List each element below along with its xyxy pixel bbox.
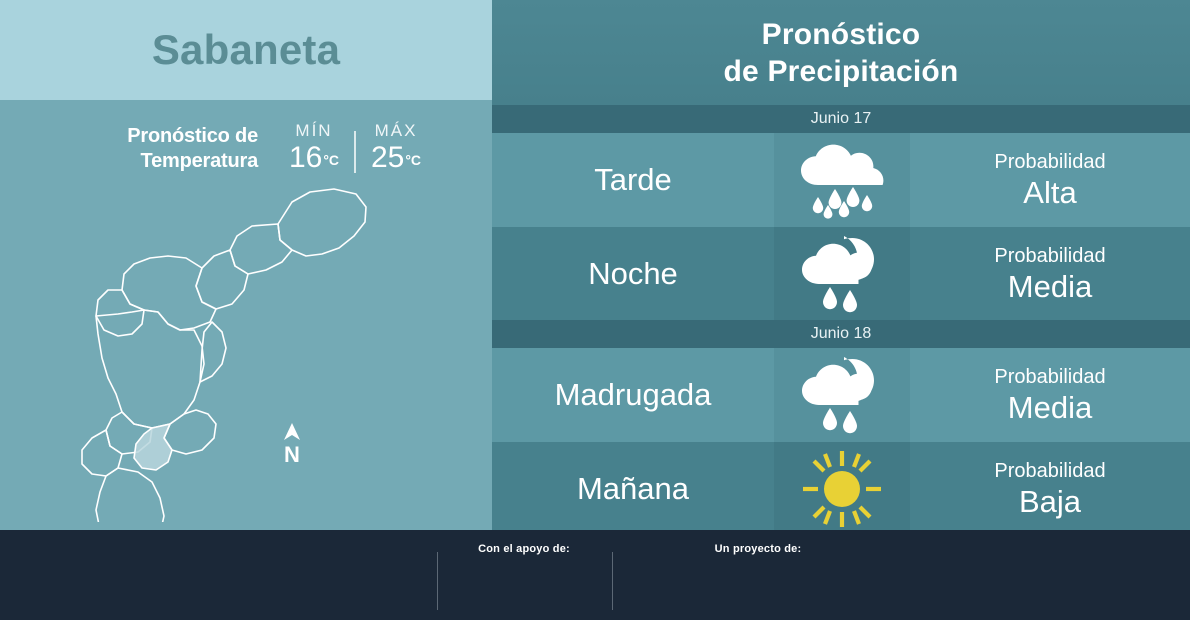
map-region-medellin: [96, 310, 204, 428]
probability-cell-madrugada: Probabilidad Media: [910, 348, 1190, 442]
map-panel: Pronóstico de Temperatura MÍN 16°C MÁX: [0, 100, 492, 530]
compass: N: [272, 422, 312, 466]
map-region-medellin-east: [200, 322, 226, 382]
probability-level-madrugada: Media: [1008, 390, 1092, 426]
map-region-envigado: [164, 410, 216, 454]
forecast-title-line1: Pronóstico: [762, 16, 921, 53]
map-region-caldas: [96, 468, 164, 522]
forecast-row-tarde: Tarde Probabilidad Alta: [492, 133, 1190, 227]
probability-level-noche: Media: [1008, 269, 1092, 305]
cloud-rain-icon: [794, 141, 890, 219]
left-panel: Sabaneta Pronóstico de Temperatura MÍN 1…: [0, 0, 492, 530]
probability-level-manana: Baja: [1019, 484, 1081, 520]
period-label-noche: Noche: [492, 227, 774, 321]
municipality-map: [34, 162, 434, 522]
forecast-panel: Pronóstico de Precipitación Junio 17 Tar…: [492, 0, 1190, 530]
project-caption: Un proyecto de:: [668, 543, 848, 555]
forecast-row-madrugada: Madrugada Probabilidad Media: [492, 348, 1190, 442]
probability-cell-manana: Probabilidad Baja: [910, 442, 1190, 536]
city-name: Sabaneta: [152, 29, 340, 71]
map-region-girardota: [230, 224, 292, 274]
probability-word-manana: Probabilidad: [994, 459, 1105, 484]
probability-cell-noche: Probabilidad Media: [910, 227, 1190, 321]
footer-divider-1: [437, 552, 438, 610]
probability-level-tarde: Alta: [1023, 175, 1076, 211]
map-region-copacabana: [196, 250, 248, 309]
map-region-bello: [122, 256, 216, 330]
footer: Con el apoyo de: Un proyecto de: SIATA: [0, 530, 1190, 620]
map-region-barbosa: [278, 189, 366, 256]
forecast-title: Pronóstico de Precipitación: [492, 0, 1190, 105]
probability-word-tarde: Probabilidad: [994, 150, 1105, 175]
north-arrow-icon: [280, 422, 304, 444]
date-header-junio-17: Junio 17: [492, 105, 1190, 133]
probability-word-noche: Probabilidad: [994, 244, 1105, 269]
moon-cloud-rain-icon: [794, 356, 890, 434]
weather-icon-cell-noche: [774, 227, 910, 321]
compass-label: N: [272, 444, 312, 466]
weather-icon-cell-tarde: [774, 133, 910, 227]
forecast-row-noche: Noche Probabilidad Media: [492, 227, 1190, 321]
map-region-sabaneta-highlighted: [134, 424, 172, 470]
support-caption: Con el apoyo de:: [404, 543, 644, 555]
footer-inner: Con el apoyo de: Un proyecto de: SIATA: [0, 530, 1190, 620]
temperature-max-label: MÁX: [375, 121, 418, 141]
city-banner: Sabaneta: [0, 0, 492, 100]
date-header-junio-18: Junio 18: [492, 320, 1190, 348]
temperature-min-label: MÍN: [295, 121, 332, 141]
probability-cell-tarde: Probabilidad Alta: [910, 133, 1190, 227]
weather-forecast-infographic: Sabaneta Pronóstico de Temperatura MÍN 1…: [0, 0, 1190, 620]
forecast-row-manana: Mañana: [492, 442, 1190, 536]
footer-divider-2: [612, 552, 613, 610]
probability-word-madrugada: Probabilidad: [994, 365, 1105, 390]
forecast-title-line2: de Precipitación: [724, 53, 959, 90]
temperature-label-line1: Pronóstico de: [88, 124, 258, 149]
sun-icon: [798, 449, 886, 529]
weather-icon-cell-madrugada: [774, 348, 910, 442]
period-label-madrugada: Madrugada: [492, 348, 774, 442]
weather-icon-cell-manana: [774, 442, 910, 536]
moon-cloud-rain-icon: [794, 235, 890, 313]
period-label-manana: Mañana: [492, 442, 774, 536]
period-label-tarde: Tarde: [492, 133, 774, 227]
